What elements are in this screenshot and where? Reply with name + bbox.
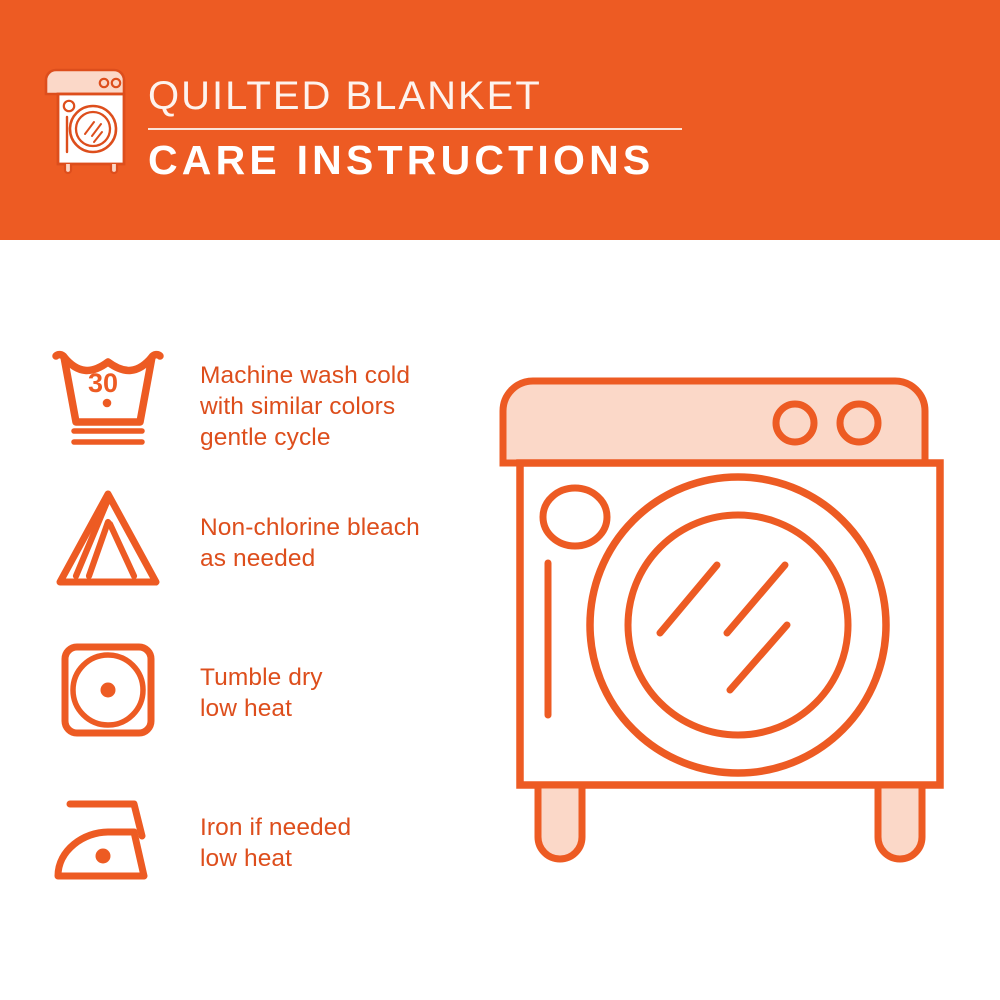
care-instruction-text: Non-chlorine bleach as needed — [200, 512, 490, 574]
care-text-line: low heat — [200, 693, 490, 724]
care-instruction-item: Iron if needed low heat — [0, 780, 500, 920]
care-instruction-item: 30 Machine wash cold with similar colors… — [0, 340, 500, 480]
care-instruction-item: Tumble dry low heat — [0, 630, 500, 770]
care-instruction-item: Non-chlorine bleach as needed — [0, 480, 500, 620]
iron-low-heat-icon — [48, 780, 168, 900]
care-text-line: Machine wash cold — [200, 360, 490, 391]
page-title: QUILTED BLANKET — [148, 72, 708, 120]
leg-right — [878, 785, 922, 859]
care-text-line: as needed — [200, 543, 490, 574]
header-text-block: QUILTED BLANKET CARE INSTRUCTIONS — [148, 72, 708, 184]
care-text-line: Non-chlorine bleach — [200, 512, 490, 543]
care-instruction-text: Machine wash cold with similar colors ge… — [200, 360, 490, 453]
care-text-line: low heat — [200, 843, 490, 874]
leg-left — [538, 785, 582, 859]
tumble-dry-low-heat-icon — [48, 630, 168, 750]
care-instruction-list: 30 Machine wash cold with similar colors… — [0, 240, 500, 1000]
care-text-line: with similar colors — [200, 391, 490, 422]
front-load-washing-machine-illustration — [495, 335, 965, 935]
washing-machine-icon — [44, 64, 138, 176]
care-instruction-text: Iron if needed low heat — [200, 812, 490, 874]
wash-tub-30-gentle-icon: 30 — [48, 340, 168, 460]
title-divider — [148, 128, 682, 130]
care-text-line: gentle cycle — [200, 422, 490, 453]
care-text-line: Tumble dry — [200, 662, 490, 693]
care-text-line: Iron if needed — [200, 812, 490, 843]
page-subtitle: CARE INSTRUCTIONS — [148, 136, 708, 184]
wash-temp-label: 30 — [88, 368, 118, 398]
care-instruction-text: Tumble dry low heat — [200, 662, 490, 724]
control-panel — [503, 381, 925, 463]
non-chlorine-bleach-triangle-icon — [48, 480, 168, 600]
header-banner: QUILTED BLANKET CARE INSTRUCTIONS — [0, 0, 1000, 240]
